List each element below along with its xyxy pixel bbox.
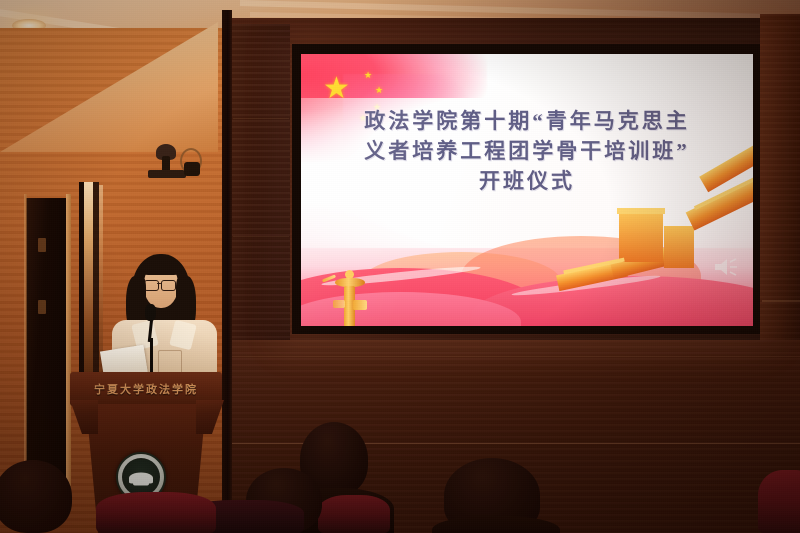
huabiao-column-graphic <box>333 276 367 326</box>
auditorium-seat <box>758 470 800 533</box>
presenter-fringe <box>141 258 181 275</box>
projection-screen: ★ ★ ★ ★ ★ <box>301 54 753 326</box>
auditorium-seat <box>96 492 216 533</box>
wall-light-slot <box>84 182 93 382</box>
huabiao-wing <box>333 300 345 308</box>
loudspeaker-icon <box>713 256 739 278</box>
panel-seam <box>762 300 800 302</box>
wall-panel-mid <box>232 24 290 342</box>
glasses-bridge <box>157 283 161 284</box>
speaker-base <box>148 170 186 178</box>
door-hinge-icon <box>38 238 46 252</box>
huabiao-wing <box>353 300 367 310</box>
door-hinge-icon <box>38 300 46 314</box>
slide-title-line-3: 开班仪式 <box>301 166 753 196</box>
door-jamb <box>66 194 71 486</box>
speaker-bracket <box>184 162 200 176</box>
podium-sign-text: 宁夏大学政法学院 <box>70 381 222 397</box>
audience-head <box>0 460 72 533</box>
slide-title-block: 政法学院第十期“青年马克思主 义者培养工程团学骨干培训班” 开班仪式 <box>301 106 753 196</box>
microphone-head-icon <box>145 304 156 321</box>
great-wall-tower <box>619 212 663 262</box>
great-wall-tower <box>664 226 694 268</box>
glasses-icon <box>161 280 176 291</box>
wall-trim-line <box>228 356 800 357</box>
emblem-symbol-base <box>133 480 149 485</box>
auditorium-seat <box>318 495 390 533</box>
panel-seam <box>233 118 289 119</box>
tower-crenellation <box>617 208 665 214</box>
panel-seam <box>233 236 289 237</box>
slot-divider <box>79 182 84 382</box>
wall-light-slot <box>99 185 103 375</box>
glasses-icon <box>144 280 159 291</box>
slide-title-line-2: 义者培养工程团学骨干培训班” <box>301 136 753 166</box>
photograph-scene: ★ ★ ★ ★ ★ <box>0 0 800 533</box>
wall-mounted-speaker <box>144 142 206 184</box>
door-jamb <box>24 194 27 486</box>
side-door[interactable] <box>26 198 70 483</box>
slide-title-line-1: 政法学院第十期“青年马克思主 <box>301 106 753 136</box>
wall-panel-right <box>760 14 800 344</box>
